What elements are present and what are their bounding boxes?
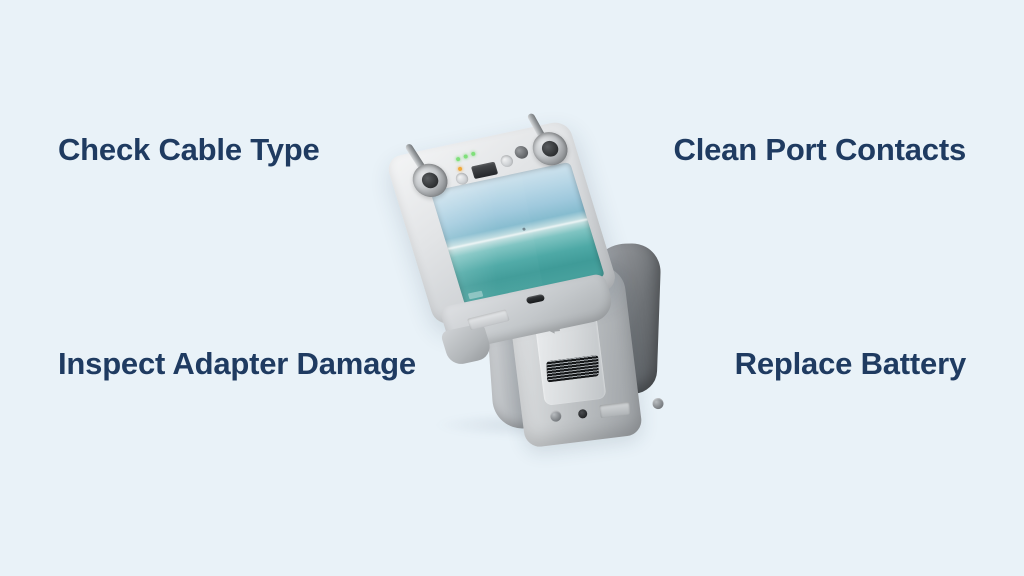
screw-left <box>550 410 562 422</box>
slide-canvas: Check Cable Type Clean Port Contacts Ins… <box>0 0 1024 576</box>
led-amber <box>458 167 463 172</box>
right-control-stick[interactable] <box>528 129 571 169</box>
product-image <box>396 112 672 442</box>
record-button[interactable] <box>499 154 514 168</box>
remote-controller-front-with-screen <box>371 103 647 376</box>
function-button[interactable] <box>513 145 530 160</box>
rect-port <box>599 402 630 419</box>
callout-inspect-adapter-damage: Inspect Adapter Damage <box>58 340 418 387</box>
round-port <box>578 409 588 419</box>
led-green-3 <box>471 152 476 157</box>
led-green-2 <box>463 154 468 159</box>
screw-right <box>652 397 664 409</box>
status-mini-display <box>471 162 498 179</box>
power-button[interactable] <box>454 172 469 186</box>
callout-check-cable-type: Check Cable Type <box>58 126 388 173</box>
led-green-1 <box>456 157 461 162</box>
